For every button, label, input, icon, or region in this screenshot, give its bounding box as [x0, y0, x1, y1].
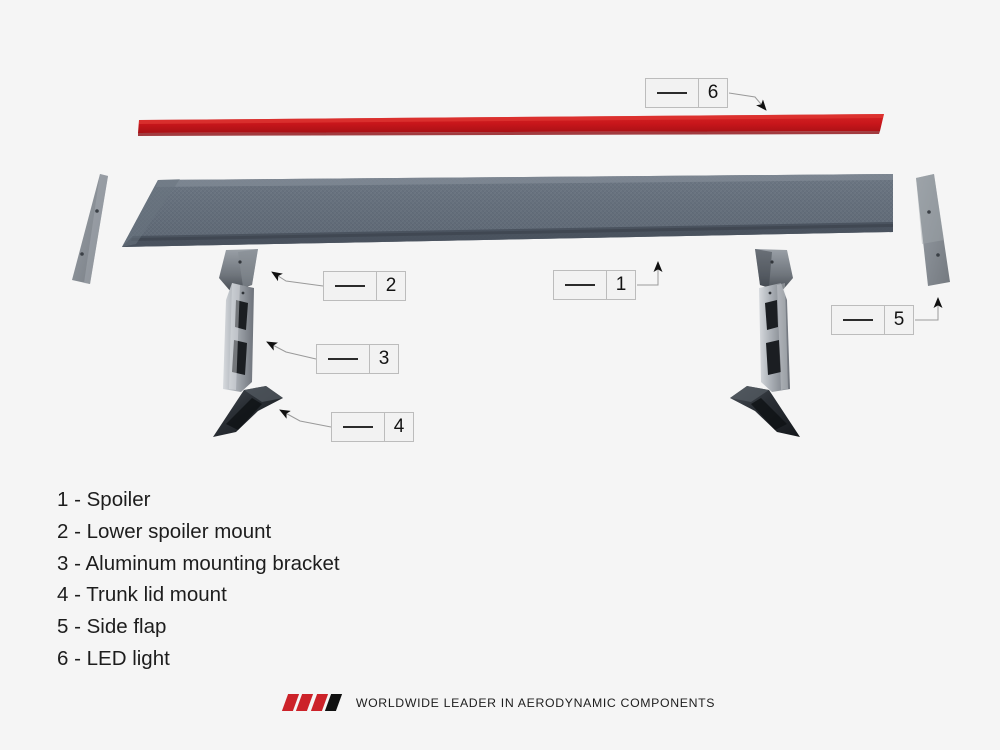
callout-number: 1: [607, 271, 635, 299]
callout-dash-cell: [324, 272, 377, 300]
callout-number: 5: [885, 306, 913, 334]
callout-number: 4: [385, 413, 413, 441]
dash-icon: [565, 284, 595, 286]
dash-icon: [843, 319, 873, 321]
callout-box-2[interactable]: 2: [323, 271, 406, 301]
callout-box-6[interactable]: 6: [645, 78, 728, 108]
footer-tagline: WORLDWIDE LEADER IN AERODYNAMIC COMPONEN…: [356, 696, 715, 710]
callout-box-3[interactable]: 3: [316, 344, 399, 374]
callout-dash-cell: [317, 345, 370, 373]
callout-number: 2: [377, 272, 405, 300]
callout-dash-cell: [332, 413, 385, 441]
footer-brand-bar: WORLDWIDE LEADER IN AERODYNAMIC COMPONEN…: [0, 694, 1000, 711]
legend-item-2: 2 - Lower spoiler mount: [57, 516, 537, 548]
callout-dash-cell: [554, 271, 607, 299]
callout-dash-cell: [832, 306, 885, 334]
leader-line-2: [272, 272, 323, 286]
callout-box-5[interactable]: 5: [831, 305, 914, 335]
legend-item-6: 6 - LED light: [57, 643, 537, 675]
legend-item-5: 5 - Side flap: [57, 611, 537, 643]
brand-chevron-marks: [285, 694, 343, 711]
callout-box-4[interactable]: 4: [331, 412, 414, 442]
dash-icon: [335, 285, 365, 287]
leader-line-3: [267, 342, 316, 359]
legend-item-4: 4 - Trunk lid mount: [57, 579, 537, 611]
dash-icon: [657, 92, 687, 94]
leader-line-1: [637, 262, 658, 285]
product-diagram-page: 1 2 3 4 5 6 1 - Spoiler 2 - Lower spoile…: [0, 0, 1000, 750]
dash-icon: [328, 358, 358, 360]
leader-line-6: [729, 93, 766, 110]
callout-dash-cell: [646, 79, 699, 107]
dash-icon: [343, 426, 373, 428]
callout-number: 3: [370, 345, 398, 373]
leader-line-5: [915, 298, 938, 320]
leader-line-4: [280, 410, 331, 427]
callout-number: 6: [699, 79, 727, 107]
callout-box-1[interactable]: 1: [553, 270, 636, 300]
chevron-mark-black-1: [325, 694, 342, 711]
legend-item-3: 3 - Aluminum mounting bracket: [57, 548, 537, 580]
parts-legend: 1 - Spoiler 2 - Lower spoiler mount 3 - …: [57, 484, 537, 675]
legend-item-1: 1 - Spoiler: [57, 484, 537, 516]
